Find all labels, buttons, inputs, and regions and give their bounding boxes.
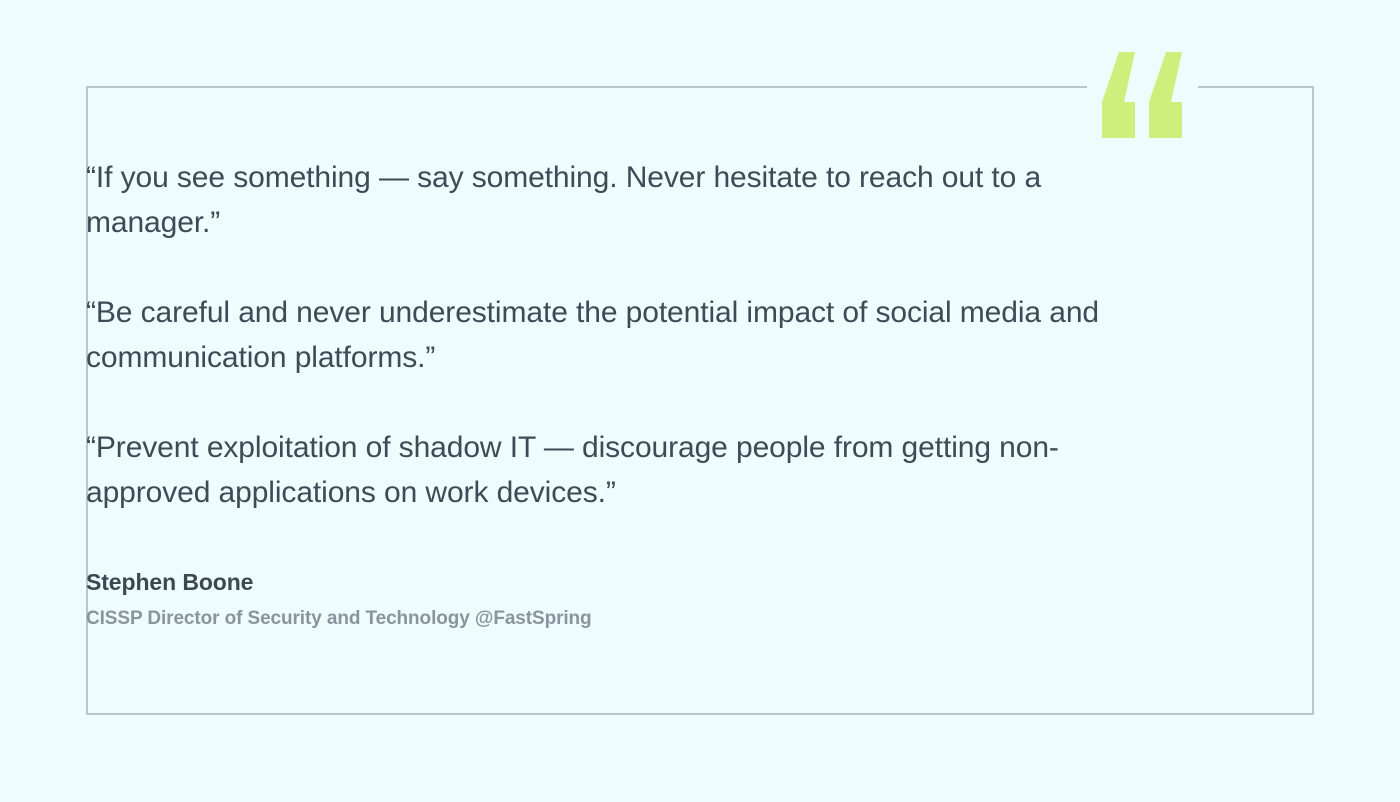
quote-card-stage: “If you see something — say something. N…	[0, 0, 1400, 802]
quote-content: “If you see something — say something. N…	[86, 155, 1286, 632]
top-border-gap	[1087, 84, 1198, 91]
quote-paragraph-1: “If you see something — say something. N…	[86, 155, 1131, 245]
quote-paragraph-3: “Prevent exploitation of shadow IT — dis…	[86, 425, 1131, 515]
author-role: CISSP Director of Security and Technolog…	[86, 606, 1286, 632]
quote-paragraph-2: “Be careful and never underestimate the …	[86, 290, 1131, 380]
author-name: Stephen Boone	[86, 567, 1286, 597]
attribution-block: Stephen Boone CISSP Director of Security…	[86, 567, 1286, 632]
